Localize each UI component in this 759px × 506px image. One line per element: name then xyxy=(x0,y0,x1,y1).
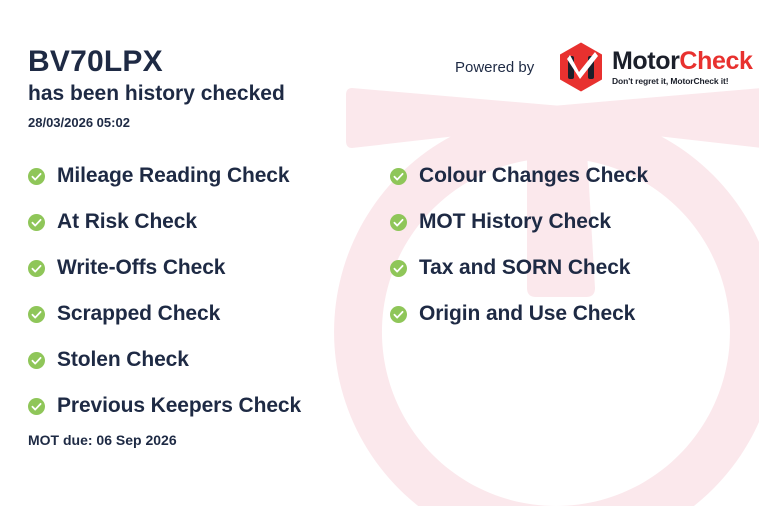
check-item: Stolen Check xyxy=(28,337,378,383)
check-item: Mileage Reading Check xyxy=(28,153,378,199)
check-circle-icon xyxy=(28,398,45,415)
motorcheck-logo[interactable]: MotorCheck Don't regret it, MotorCheck i… xyxy=(557,41,752,93)
check-circle-icon xyxy=(28,306,45,323)
check-item-label: Origin and Use Check xyxy=(419,302,635,326)
check-circle-icon xyxy=(28,214,45,231)
checks-right-column: Colour Changes Check MOT History Check T… xyxy=(390,153,740,337)
check-item: Previous Keepers Check xyxy=(28,383,378,429)
logo-word-check: Check xyxy=(679,47,752,75)
checks-left-column: Mileage Reading Check At Risk Check Writ… xyxy=(28,153,378,429)
check-item: Write-Offs Check xyxy=(28,245,378,291)
motorcheck-wordmark: MotorCheck Don't regret it, MotorCheck i… xyxy=(612,49,752,86)
check-item-label: Colour Changes Check xyxy=(419,164,648,188)
check-item-label: At Risk Check xyxy=(57,210,197,234)
check-item-label: Mileage Reading Check xyxy=(57,164,289,188)
check-item-label: Previous Keepers Check xyxy=(57,394,301,418)
check-item-label: Stolen Check xyxy=(57,348,189,372)
check-circle-icon xyxy=(390,168,407,185)
page-subtitle: has been history checked xyxy=(28,82,285,105)
check-item-label: Write-Offs Check xyxy=(57,256,225,280)
check-item: Colour Changes Check xyxy=(390,153,740,199)
check-item: Scrapped Check xyxy=(28,291,378,337)
check-timestamp: 28/03/2026 05:02 xyxy=(28,115,130,130)
check-item-label: MOT History Check xyxy=(419,210,611,234)
check-circle-icon xyxy=(390,260,407,277)
check-circle-icon xyxy=(28,168,45,185)
check-item: At Risk Check xyxy=(28,199,378,245)
logo-tagline: Don't regret it, MotorCheck it! xyxy=(612,77,752,86)
check-item: MOT History Check xyxy=(390,199,740,245)
check-circle-icon xyxy=(390,306,407,323)
check-circle-icon xyxy=(28,260,45,277)
vehicle-history-check-banner: BV70LPX has been history checked 28/03/2… xyxy=(0,0,759,506)
check-item-label: Tax and SORN Check xyxy=(419,256,630,280)
check-circle-icon xyxy=(390,214,407,231)
registration-plate-title: BV70LPX xyxy=(28,46,163,78)
mot-due-text: MOT due: 06 Sep 2026 xyxy=(28,432,177,448)
check-circle-icon xyxy=(28,352,45,369)
check-item: Tax and SORN Check xyxy=(390,245,740,291)
check-item-label: Scrapped Check xyxy=(57,302,220,326)
check-item: Origin and Use Check xyxy=(390,291,740,337)
motorcheck-hexagon-logo-icon xyxy=(557,41,605,93)
logo-word-motor: Motor xyxy=(612,47,679,75)
powered-by-label: Powered by xyxy=(455,59,534,76)
